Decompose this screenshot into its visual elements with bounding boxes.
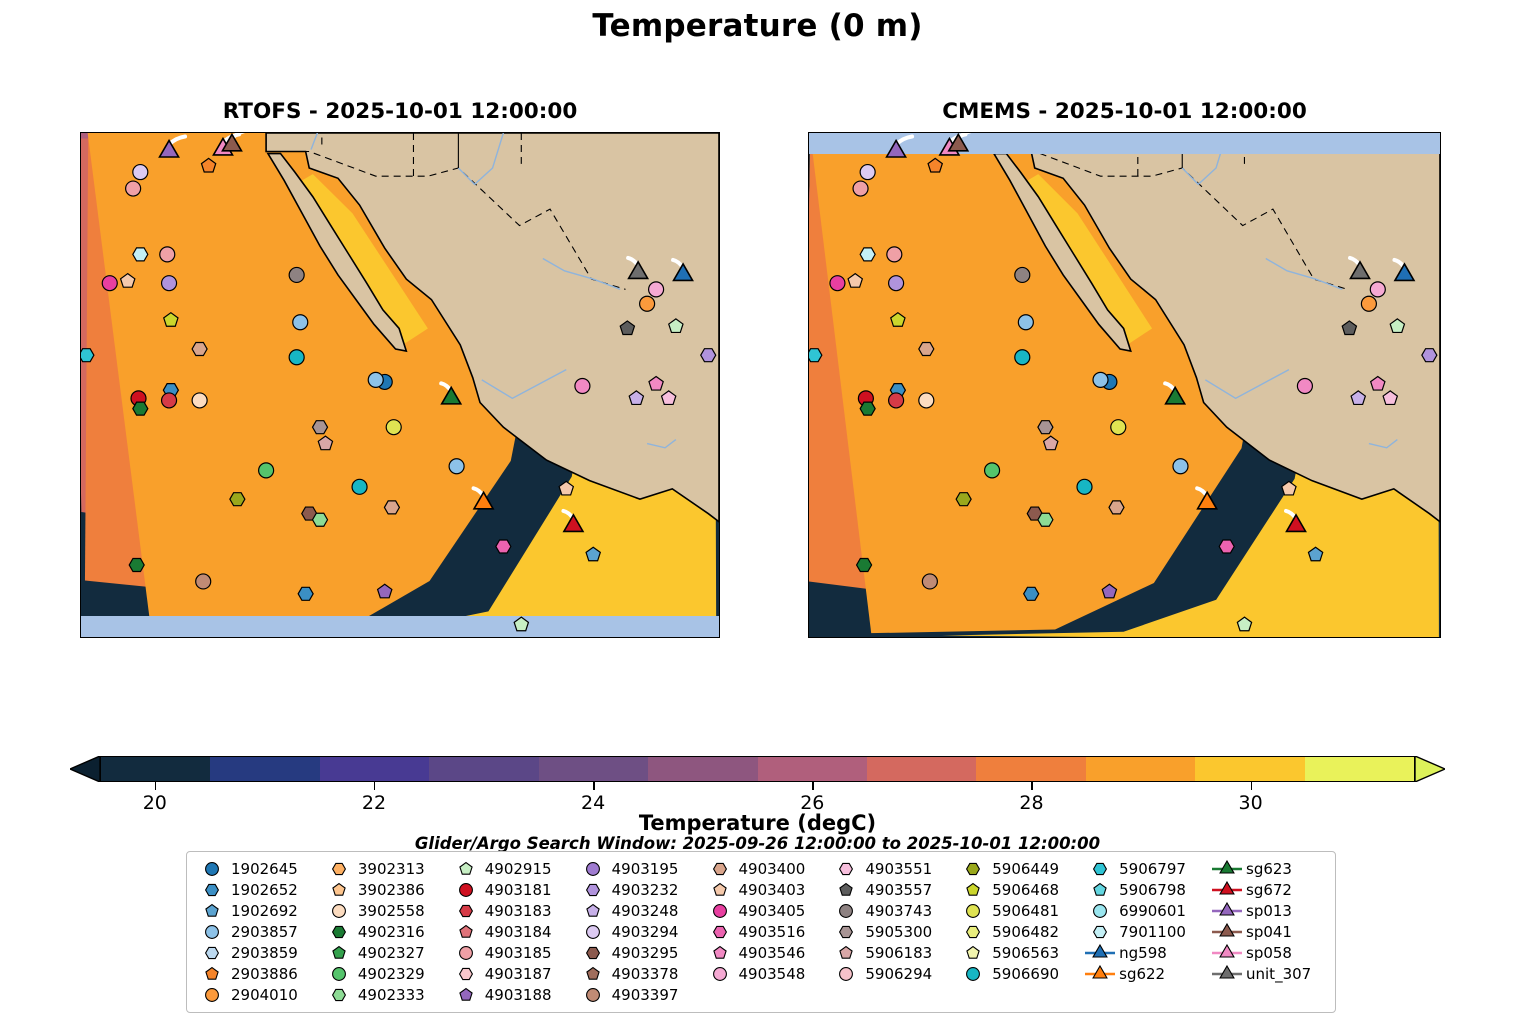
axis-tick (1440, 514, 1441, 516)
legend-item[interactable]: 4903295 (576, 942, 703, 963)
axis-tick (808, 287, 809, 289)
legend-label: sp041 (1244, 923, 1292, 941)
legend-item[interactable]: 4903548 (703, 963, 830, 984)
legend-label: 4903185 (483, 944, 552, 962)
axis-tick (1440, 132, 1441, 133)
axis-tick (1369, 132, 1371, 133)
legend-item[interactable]: sg622 (1083, 963, 1210, 984)
axis-tick (80, 411, 81, 413)
legend-item[interactable]: 2904010 (195, 984, 322, 1005)
observation-marker (474, 492, 493, 509)
axis-tick (342, 132, 344, 133)
legend-item[interactable]: 2903857 (195, 921, 322, 942)
observation-marker (1422, 349, 1437, 362)
legend-item[interactable]: unit_307 (1210, 963, 1327, 984)
axis-tick (719, 246, 720, 248)
legend-marker-hexagon-icon (195, 942, 229, 963)
legend-item[interactable]: 1902692 (195, 900, 322, 921)
axis-tick (808, 349, 809, 351)
legend-label: sp013 (1244, 902, 1292, 920)
legend-item[interactable]: 2903859 (195, 942, 322, 963)
legend-marker-pentagon-icon (322, 942, 356, 963)
axis-tick (1262, 132, 1264, 133)
axis-tick (180, 132, 182, 133)
legend-label: 6990601 (1117, 902, 1186, 920)
legend-item[interactable]: 4903232 (576, 879, 703, 900)
legend-marker-circle-icon (195, 858, 229, 879)
axis-tick (808, 431, 809, 433)
observation-marker (860, 248, 875, 261)
legend-label: unit_307 (1244, 965, 1311, 983)
colorbar-band (1195, 757, 1304, 781)
observation-marker (133, 165, 148, 180)
observation-marker (514, 617, 528, 631)
legend-label: 4903548 (737, 965, 806, 983)
axis-tick (521, 132, 523, 133)
observation-marker (289, 267, 304, 282)
axis-tick (683, 132, 685, 133)
axis-tick (1440, 637, 1441, 638)
legend-marker-pentagon-icon (449, 858, 483, 879)
axis-tick (80, 328, 81, 330)
axis-tick (907, 637, 909, 638)
axis-tick (1440, 143, 1441, 145)
observation-marker (1350, 262, 1369, 279)
legend-marker-circle-icon (576, 921, 610, 942)
axis-tick (162, 637, 164, 638)
axis-tick (80, 534, 81, 536)
axis-tick (1440, 267, 1441, 269)
legend-column: 1902645190265219026922903857290385929038… (195, 858, 322, 1008)
axis-tick (1440, 575, 1441, 577)
colorbar-extend-min (70, 756, 100, 782)
axis-tick (1049, 132, 1051, 133)
observation-marker (121, 274, 135, 288)
axis-tick (80, 267, 81, 269)
axis-tick (80, 637, 81, 638)
axis-tick (611, 637, 613, 638)
observation-markers (809, 133, 1437, 631)
legend-item[interactable]: 4903551 (829, 858, 956, 879)
legend-item[interactable]: 4903184 (449, 921, 576, 942)
axis-tick (539, 132, 541, 133)
axis-tick (1440, 411, 1441, 413)
legend-item[interactable]: 4902915 (449, 858, 576, 879)
observation-marker (259, 463, 274, 478)
axis-tick (467, 132, 469, 133)
legend-item[interactable]: 4903516 (703, 921, 830, 942)
colorbar-band (429, 757, 538, 781)
observation-marker (1038, 421, 1053, 434)
legend-label: 1902645 (229, 860, 298, 878)
legend-item[interactable]: 4903181 (449, 879, 576, 900)
legend-label: 5906798 (1117, 881, 1186, 899)
axis-tick (1440, 184, 1441, 186)
legend-item[interactable]: 4902333 (322, 984, 449, 1005)
axis-tick (1387, 132, 1389, 133)
axis-tick (1031, 132, 1033, 133)
legend-item[interactable]: 5906690 (956, 963, 1083, 984)
observation-marker (669, 319, 683, 333)
observation-marker (298, 587, 313, 600)
axis-tick (996, 132, 998, 133)
legend-marker-hexagon-icon (322, 858, 356, 879)
axis-tick (198, 132, 200, 133)
axis-tick (925, 637, 927, 638)
panel-rtofs: RTOFS - 2025-10-01 12:00:00 125°W120°W11… (80, 132, 720, 638)
axis-tick (126, 132, 128, 133)
legend-label: 1902652 (229, 881, 298, 899)
axis-tick (808, 411, 809, 413)
axis-tick (719, 164, 720, 166)
axis-tick (1209, 637, 1211, 638)
axis-tick (1440, 349, 1441, 351)
axis-tick (1298, 637, 1300, 638)
observation-marker (809, 349, 822, 362)
axis-tick (1440, 555, 1441, 557)
observation-marker (1390, 319, 1404, 333)
observation-marker (129, 559, 144, 572)
observation-marker (1287, 515, 1306, 532)
legend-label: 7901100 (1117, 923, 1186, 941)
observation-marker (442, 387, 461, 404)
colorbar-tick (593, 782, 595, 790)
legend-marker-circle-icon (449, 942, 483, 963)
axis-tick (216, 132, 218, 133)
legend-label: 5906797 (1117, 860, 1186, 878)
panel-cmems-title: CMEMS - 2025-10-01 12:00:00 (808, 99, 1441, 124)
legend-item[interactable]: 1902652 (195, 879, 322, 900)
observation-marker (891, 313, 905, 327)
axis-tick (719, 555, 720, 557)
axis-tick (1191, 132, 1193, 133)
observation-marker (1297, 379, 1312, 394)
axis-tick (80, 370, 81, 372)
axis-tick (216, 637, 218, 638)
legend-marker-glider-icon (1210, 921, 1244, 942)
observation-marker (649, 282, 664, 297)
axis-tick (360, 132, 362, 133)
legend-item[interactable]: 4903403 (703, 879, 830, 900)
legend-item[interactable]: 4903400 (703, 858, 830, 879)
axis-tick (288, 637, 290, 638)
legend-item[interactable]: 5906449 (956, 858, 1083, 879)
observation-marker (81, 349, 94, 362)
legend-box[interactable]: 1902645190265219026922903857290385929038… (186, 851, 1336, 1013)
legend-item[interactable]: 4903185 (449, 942, 576, 963)
observation-marker (1383, 391, 1397, 405)
axis-tick (719, 472, 720, 474)
legend-item[interactable]: 4903405 (703, 900, 830, 921)
legend-label: 4903397 (610, 986, 679, 1004)
legend-item[interactable]: 4903378 (576, 963, 703, 984)
axis-tick (80, 143, 81, 145)
axis-tick (1440, 637, 1441, 638)
legend-label: 4903378 (610, 965, 679, 983)
axis-tick (575, 132, 577, 133)
axis-tick (808, 370, 809, 372)
axis-tick (575, 637, 577, 638)
axis-tick (198, 637, 200, 638)
axis-tick (1031, 637, 1033, 638)
axis-tick (503, 132, 505, 133)
legend-marker-hexagon-icon (829, 921, 863, 942)
axis-tick (719, 616, 720, 618)
axis-tick (1387, 637, 1389, 638)
axis-tick (978, 637, 980, 638)
legend-label: 4902327 (356, 944, 425, 962)
legend-item[interactable]: ng598 (1083, 942, 1210, 963)
legend-item[interactable]: 4903187 (449, 963, 576, 984)
observation-marker (701, 349, 716, 362)
legend-label: 4903183 (483, 902, 552, 920)
legend-item[interactable]: 5906797 (1083, 858, 1210, 879)
legend-item[interactable]: 5906468 (956, 879, 1083, 900)
axis-tick (808, 596, 809, 598)
map-axes-rtofs[interactable]: 125°W120°W115°W110°W105°W100°W95°W10°N15… (80, 132, 720, 638)
colorbar-band (1086, 757, 1195, 781)
legend-marker-circle-icon (829, 900, 863, 921)
observation-marker (386, 420, 401, 435)
colorbar-bands (100, 756, 1415, 782)
axis-tick (1013, 132, 1015, 133)
legend-item[interactable]: 4903248 (576, 900, 703, 921)
axis-tick (431, 132, 433, 133)
observation-marker (289, 350, 304, 365)
legend-marker-hexagon-icon (829, 858, 863, 879)
observation-marker (1077, 479, 1092, 494)
legend-marker-glider-icon (1210, 942, 1244, 963)
legend-item[interactable]: 4902329 (322, 963, 449, 984)
axis-tick (808, 493, 809, 495)
observation-markers (81, 133, 716, 631)
axis-tick (1440, 205, 1441, 207)
axis-tick (80, 308, 81, 310)
figure-canvas: Temperature (0 m) RTOFS - 2025-10-01 12:… (0, 0, 1515, 1017)
axis-tick (1067, 132, 1069, 133)
axis-tick (234, 132, 236, 133)
legend-marker-circle-icon (703, 963, 737, 984)
colorbar-label: Temperature (degC) (0, 811, 1515, 835)
axis-tick (808, 246, 809, 248)
axis-tick (611, 132, 613, 133)
axis-tick (719, 226, 720, 228)
axis-tick (80, 246, 81, 248)
legend-item[interactable]: 1902645 (195, 858, 322, 879)
axis-tick (539, 637, 541, 638)
observation-marker (1024, 587, 1039, 600)
axis-tick (306, 132, 308, 133)
observation-marker (1015, 350, 1030, 365)
axis-tick (808, 328, 809, 330)
axis-tick (719, 637, 720, 638)
legend-label: 5906468 (990, 881, 1059, 899)
axis-tick (871, 132, 873, 133)
axis-tick (719, 328, 720, 330)
axis-tick (907, 132, 909, 133)
axis-tick (80, 452, 81, 454)
legend-label: 4903184 (483, 923, 552, 941)
axis-tick (162, 132, 164, 133)
axis-tick (80, 575, 81, 577)
axis-tick (1102, 637, 1104, 638)
axis-tick (80, 164, 81, 166)
axis-tick (80, 349, 81, 351)
axis-tick (1440, 596, 1441, 598)
map-axes-cmems[interactable]: 125°W120°W115°W110°W105°W100°W95°W10°N15… (808, 132, 1441, 638)
axis-tick (719, 431, 720, 433)
observation-marker (1111, 420, 1126, 435)
axis-tick (719, 452, 720, 454)
observation-marker (293, 315, 308, 330)
legend-marker-hexagon-icon (1083, 921, 1117, 942)
axis-tick (808, 164, 809, 166)
observation-marker (860, 165, 875, 180)
axis-tick (1404, 132, 1406, 133)
colorbar: 202224262830 (70, 756, 1445, 782)
axis-tick (90, 637, 92, 638)
legend-item[interactable]: 4902316 (322, 921, 449, 942)
axis-tick (80, 555, 81, 557)
axis-tick (808, 575, 809, 577)
legend-item[interactable]: 4903195 (576, 858, 703, 879)
axis-tick (80, 493, 81, 495)
observation-marker (564, 515, 583, 532)
axis-tick (270, 637, 272, 638)
axis-tick (449, 132, 451, 133)
legend-label: 4903400 (737, 860, 806, 878)
legend-item[interactable]: 4902327 (322, 942, 449, 963)
axis-tick (719, 308, 720, 310)
legend-item[interactable]: 4903546 (703, 942, 830, 963)
axis-tick (80, 205, 81, 207)
legend-item[interactable]: 4903743 (829, 900, 956, 921)
legend-item[interactable]: 2903886 (195, 963, 322, 984)
legend-item[interactable]: sp058 (1210, 942, 1327, 963)
axis-tick (942, 132, 944, 133)
legend-item[interactable]: 5905300 (829, 921, 956, 942)
axis-tick (288, 132, 290, 133)
axis-tick (719, 184, 720, 186)
legend-item[interactable]: 4903557 (829, 879, 956, 900)
axis-tick (1013, 637, 1015, 638)
legend-item[interactable]: sp041 (1210, 921, 1327, 942)
observation-marker (162, 393, 177, 408)
legend-marker-pentagon-icon (195, 963, 229, 984)
legend-column: 4903195490323249032484903294490329549033… (576, 858, 703, 1008)
legend-item[interactable]: 5906294 (829, 963, 956, 984)
legend-label: 2904010 (229, 986, 298, 1004)
axis-tick (665, 132, 667, 133)
legend-label: 3902558 (356, 902, 425, 920)
axis-tick (719, 132, 720, 133)
axis-tick (1440, 616, 1441, 618)
observation-marker (133, 402, 148, 415)
observation-marker (919, 393, 934, 408)
axis-tick (1156, 637, 1158, 638)
legend-item[interactable]: 4903397 (576, 984, 703, 1005)
observation-marker (887, 141, 906, 158)
legend-item[interactable]: 4903294 (576, 921, 703, 942)
legend-item[interactable]: 7901100 (1083, 921, 1210, 942)
legend-item[interactable]: sg672 (1210, 879, 1327, 900)
legend-item[interactable]: sg623 (1210, 858, 1327, 879)
legend-item[interactable]: 3902313 (322, 858, 449, 879)
axis-tick (180, 637, 182, 638)
axis-tick (942, 637, 944, 638)
legend-item[interactable]: sp013 (1210, 900, 1327, 921)
axis-tick (413, 637, 415, 638)
axis-tick (593, 132, 595, 133)
legend-marker-circle-icon (1083, 900, 1117, 921)
legend-label: 4903294 (610, 923, 679, 941)
temperature-field-cmems (809, 133, 1440, 637)
axis-tick (996, 637, 998, 638)
colorbar-band (1305, 757, 1414, 781)
legend-item[interactable]: 6990601 (1083, 900, 1210, 921)
observation-marker (164, 313, 178, 327)
legend-marker-circle-icon (956, 900, 990, 921)
axis-tick (324, 637, 326, 638)
legend-label: 4903187 (483, 965, 552, 983)
axis-tick (80, 514, 81, 516)
axis-tick (593, 637, 595, 638)
axis-tick (960, 132, 962, 133)
legend-label: 1902692 (229, 902, 298, 920)
axis-tick (360, 637, 362, 638)
legend-item[interactable]: 4903183 (449, 900, 576, 921)
legend-item[interactable]: 5906798 (1083, 879, 1210, 900)
axis-tick (378, 637, 380, 638)
legend-item[interactable]: 5906563 (956, 942, 1083, 963)
axis-tick (80, 431, 81, 433)
observation-marker (1018, 315, 1033, 330)
axis-tick (808, 616, 809, 618)
axis-tick (719, 370, 720, 372)
observation-marker (160, 247, 175, 262)
legend-label: 2903886 (229, 965, 298, 983)
axis-tick (925, 132, 927, 133)
axis-tick (378, 132, 380, 133)
axis-tick (1173, 132, 1175, 133)
observation-marker (126, 181, 141, 196)
observation-marker (629, 262, 648, 279)
legend-label: 5906183 (863, 944, 932, 962)
observation-marker (662, 391, 676, 405)
observation-marker (160, 141, 179, 158)
legend-item[interactable]: 4903188 (449, 984, 576, 1005)
axis-tick (80, 287, 81, 289)
legend-item[interactable]: 5906183 (829, 942, 956, 963)
axis-tick (1440, 308, 1441, 310)
legend-item[interactable]: 5906481 (956, 900, 1083, 921)
axis-tick (889, 132, 891, 133)
axis-tick (80, 390, 81, 392)
legend-label: sg623 (1244, 860, 1292, 878)
observation-marker (848, 274, 862, 288)
legend-marker-circle-icon (576, 858, 610, 879)
legend-item[interactable]: 5906482 (956, 921, 1083, 942)
axis-tick (1049, 637, 1051, 638)
legend-item[interactable]: 3902386 (322, 879, 449, 900)
legend-item[interactable]: 3902558 (322, 900, 449, 921)
legend-marker-circle-icon (449, 879, 483, 900)
legend-marker-circle-icon (195, 984, 229, 1005)
axis-tick (808, 514, 809, 516)
legend-column: 4903551490355749037435905300590618359062… (829, 858, 956, 1008)
legend-marker-hexagon-icon (449, 900, 483, 921)
legend-label: 4903546 (737, 944, 806, 962)
